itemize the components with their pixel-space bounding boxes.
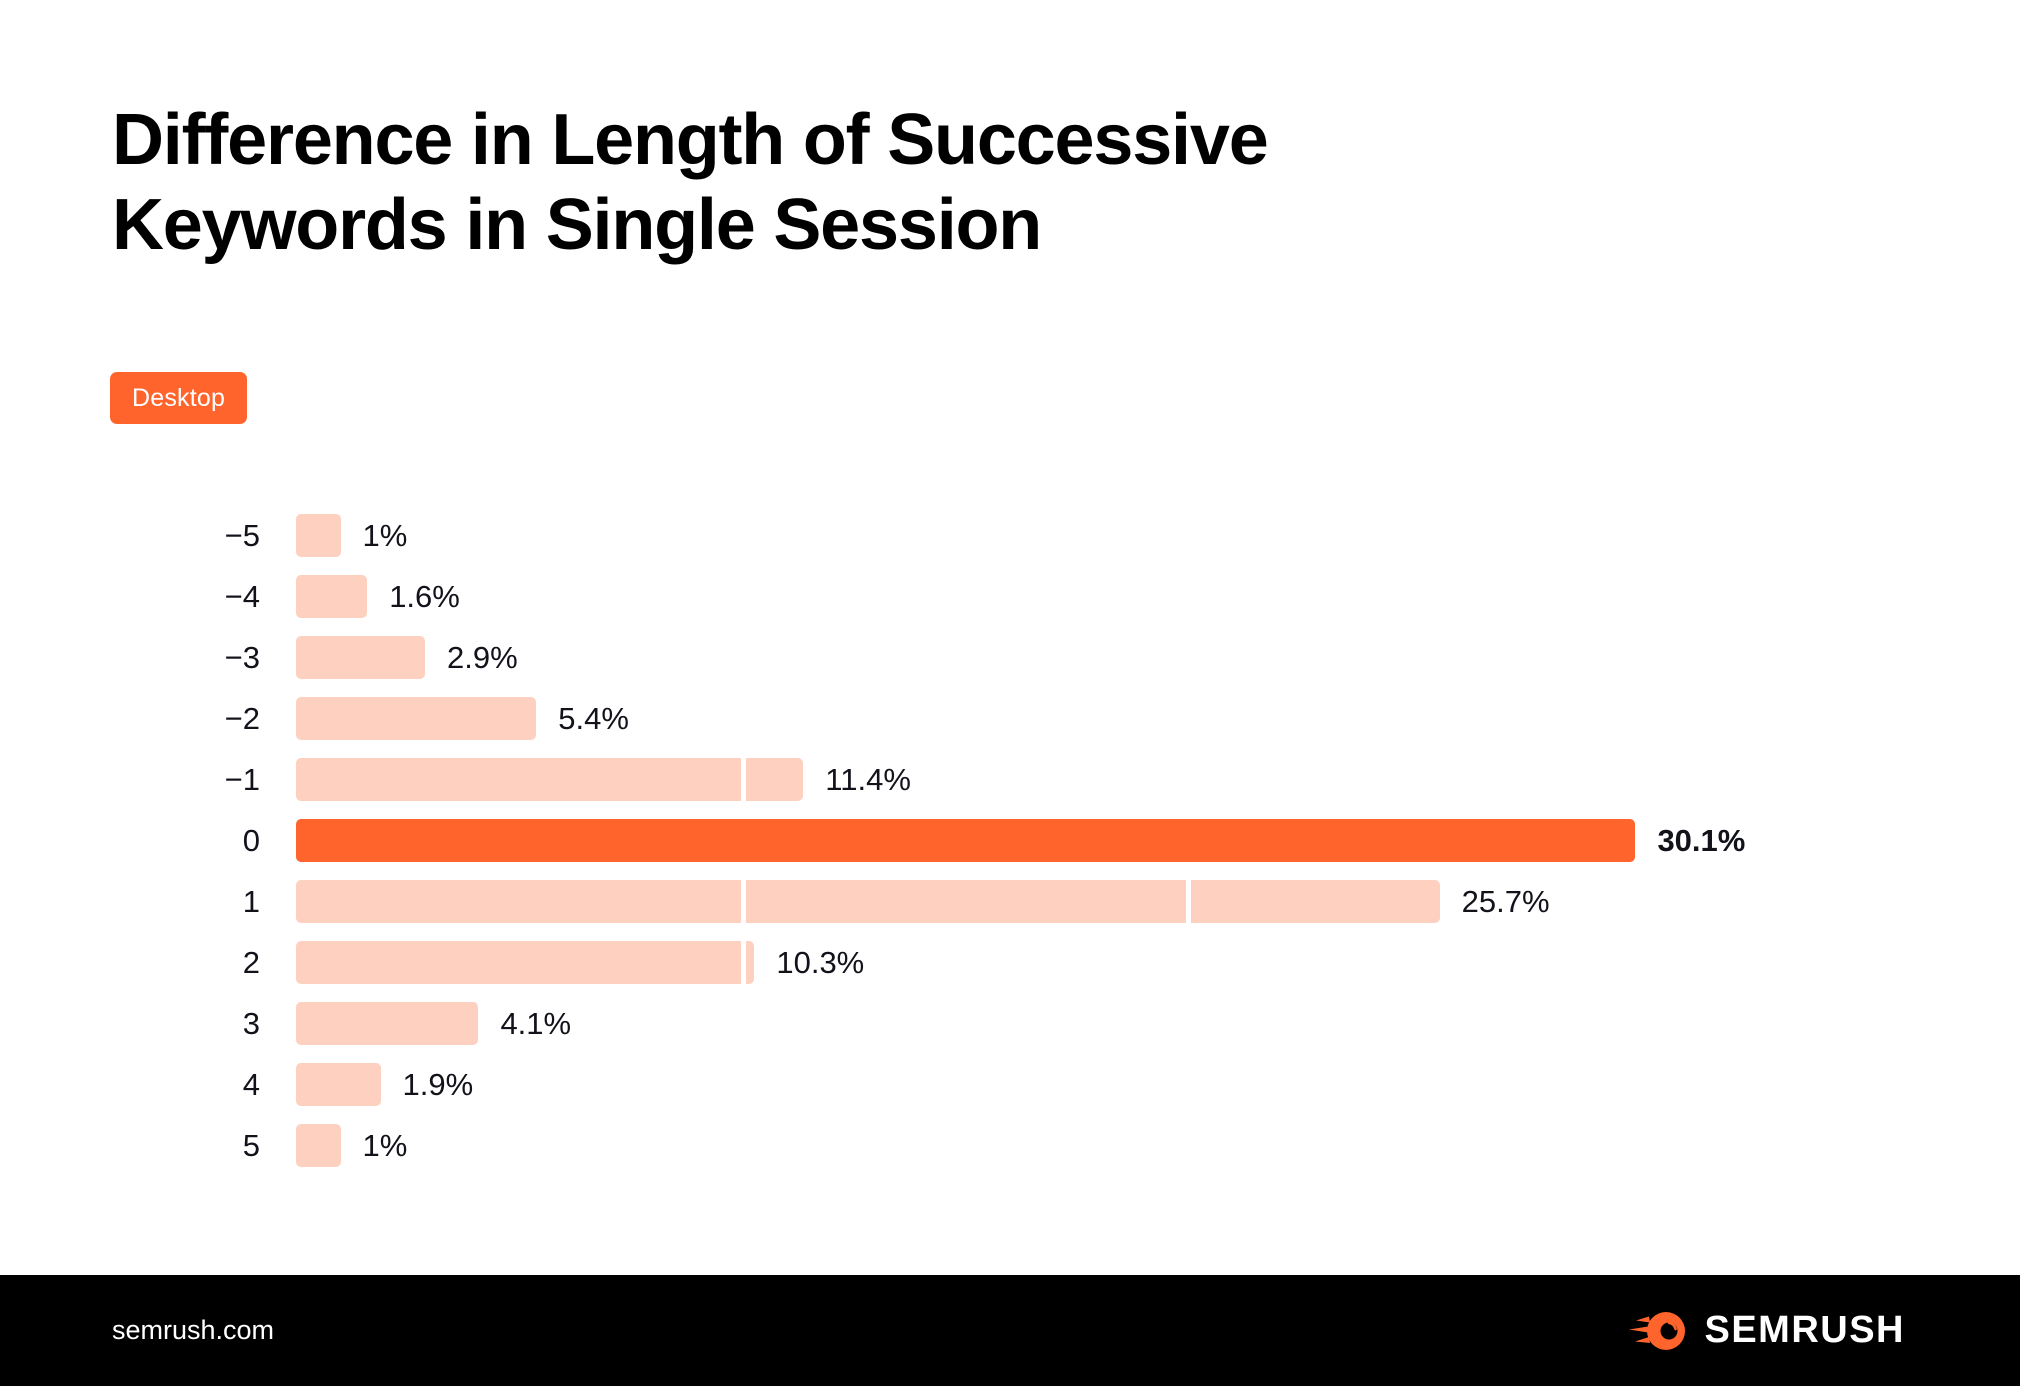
value-label: 1.9% xyxy=(403,1054,474,1115)
bar xyxy=(296,575,367,618)
value-label: 2.9% xyxy=(447,627,518,688)
chart-row: −51% xyxy=(0,505,2020,566)
category-label: 2 xyxy=(140,932,260,993)
category-label: −1 xyxy=(140,749,260,810)
chart-row: −32.9% xyxy=(0,627,2020,688)
bar xyxy=(296,880,1440,923)
bar xyxy=(296,514,341,557)
footer-bar: semrush.com SEMRUSH xyxy=(0,1275,2020,1386)
category-label: 4 xyxy=(140,1054,260,1115)
value-label: 30.1% xyxy=(1657,810,1745,871)
bar xyxy=(296,697,536,740)
bar xyxy=(296,1002,478,1045)
category-label: 1 xyxy=(140,871,260,932)
bar xyxy=(296,1063,381,1106)
value-label: 4.1% xyxy=(500,993,571,1054)
value-label: 1.6% xyxy=(389,566,460,627)
page-title: Difference in Length of Successive Keywo… xyxy=(112,98,1812,268)
category-label: −3 xyxy=(140,627,260,688)
value-label: 1% xyxy=(363,505,408,566)
bar xyxy=(296,941,754,984)
bar xyxy=(296,636,425,679)
badge-label: Desktop xyxy=(132,384,225,413)
chart-row: 51% xyxy=(0,1115,2020,1176)
semrush-comet-icon xyxy=(1628,1310,1686,1352)
category-label: 3 xyxy=(140,993,260,1054)
semrush-logo: SEMRUSH xyxy=(1628,1275,1905,1386)
value-label: 25.7% xyxy=(1462,871,1550,932)
bar-highlighted xyxy=(296,819,1635,862)
value-label: 5.4% xyxy=(558,688,629,749)
bar xyxy=(296,758,803,801)
category-label: −4 xyxy=(140,566,260,627)
chart-row: 210.3% xyxy=(0,932,2020,993)
chart-row: 125.7% xyxy=(0,871,2020,932)
semrush-wordmark: SEMRUSH xyxy=(1704,1309,1905,1352)
chart-row: 030.1% xyxy=(0,810,2020,871)
chart-row: −25.4% xyxy=(0,688,2020,749)
value-label: 11.4% xyxy=(825,749,911,810)
category-label: 0 xyxy=(140,810,260,871)
value-label: 10.3% xyxy=(776,932,864,993)
value-label: 1% xyxy=(363,1115,408,1176)
category-label: 5 xyxy=(140,1115,260,1176)
category-label: −5 xyxy=(140,505,260,566)
category-label: −2 xyxy=(140,688,260,749)
chart-row: −111.4% xyxy=(0,749,2020,810)
bar xyxy=(296,1124,341,1167)
chart-row: −41.6% xyxy=(0,566,2020,627)
footer-url[interactable]: semrush.com xyxy=(112,1275,274,1386)
bar-chart: −51%−41.6%−32.9%−25.4%−111.4%030.1%125.7… xyxy=(0,505,2020,1185)
chart-row: 34.1% xyxy=(0,993,2020,1054)
chart-row: 41.9% xyxy=(0,1054,2020,1115)
legend-badge-desktop[interactable]: Desktop xyxy=(110,372,247,424)
